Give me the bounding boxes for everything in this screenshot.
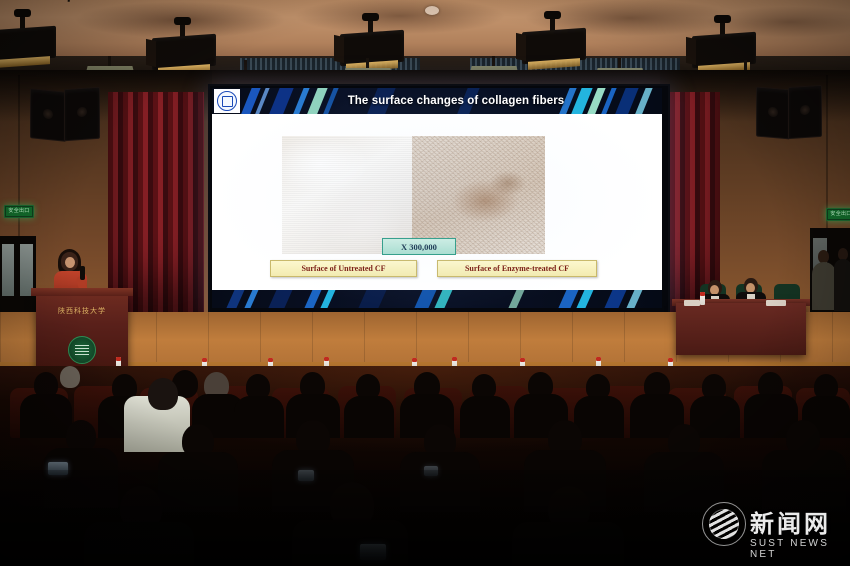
enzyme-treated-collagen-fiber-micrograph	[412, 136, 545, 254]
news-logo-icon	[702, 502, 746, 546]
stage-light-fixture	[0, 28, 56, 68]
audience-head	[60, 366, 80, 388]
slide-title: The surface changes of collagen fibers	[256, 88, 656, 114]
audience-shoulders	[574, 396, 624, 438]
exit-sign-label: 安全出口	[827, 209, 850, 220]
untreated-collagen-fiber-micrograph	[282, 136, 412, 254]
lectern-emblem-icon	[68, 336, 96, 364]
water-bottle	[700, 292, 705, 305]
exit-sign-label: 安全出口	[5, 206, 33, 217]
watermark-english-text: SUST NEWS NET	[750, 538, 840, 560]
wall-speaker	[64, 87, 100, 142]
lectern-university-name: 陕西科技大学	[36, 306, 128, 316]
magnification-badge: X 300,000	[382, 238, 456, 255]
document-on-table	[684, 300, 700, 306]
university-emblem-icon	[214, 89, 240, 113]
panel-table	[676, 303, 806, 355]
audience-shoulders	[20, 394, 72, 438]
document-on-table	[766, 300, 786, 306]
auditorium-photo: 安全出口 安全出口	[0, 0, 850, 566]
caption-untreated: Surface of Untreated CF	[270, 260, 417, 277]
audience-shoulders	[234, 396, 284, 438]
lectern-top	[31, 288, 133, 296]
slide-body: X 300,000 Surface of Untreated CF Surfac…	[212, 114, 662, 290]
wall-speaker	[756, 87, 790, 140]
watermark-chinese-text: 新闻网	[750, 504, 831, 539]
caption-untreated-label: Surface of Untreated CF	[301, 264, 385, 273]
stage-light-fixture	[522, 30, 586, 70]
slide-footer	[212, 290, 662, 308]
wall-speaker	[30, 88, 66, 142]
standing-person-body	[834, 259, 850, 311]
audience-shoulders	[460, 396, 510, 438]
caption-enzyme-treated: Surface of Enzyme-treated CF	[437, 260, 597, 277]
slide-header: The surface changes of collagen fibers	[212, 88, 662, 114]
audience-head	[148, 378, 178, 410]
smoke-detector	[425, 6, 439, 15]
handheld-microphone	[80, 266, 85, 280]
news-watermark: 新闻网 SUST NEWS NET	[700, 498, 840, 558]
exit-sign-right: 安全出口	[826, 208, 850, 221]
wall-speaker	[788, 85, 822, 139]
stage-light-fixture	[340, 32, 404, 72]
caption-enzyme-treated-label: Surface of Enzyme-treated CF	[465, 264, 569, 273]
lectern: 陕西科技大学	[36, 294, 128, 372]
magnification-label: X 300,000	[401, 242, 437, 252]
exit-sign-left: 安全出口	[4, 205, 34, 218]
audience-shoulders	[344, 396, 394, 438]
presentation-slide[interactable]: The surface changes of collagen fibers X…	[212, 88, 662, 308]
presenter-face	[65, 257, 75, 268]
standing-person-body	[812, 262, 836, 310]
